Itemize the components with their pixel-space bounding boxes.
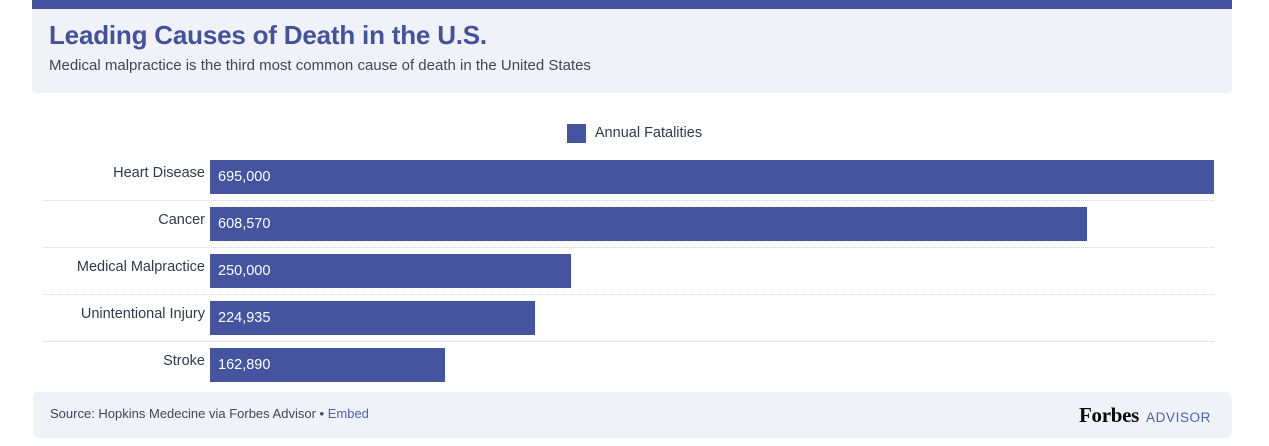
bar-row: Heart Disease 695,000	[0, 155, 1269, 202]
legend-item-annual-fatalities[interactable]: Annual Fatalities	[567, 124, 702, 143]
page-title: Leading Causes of Death in the U.S.	[49, 20, 487, 51]
bar-category-label: Heart Disease	[0, 165, 205, 181]
bar-segment[interactable]: 695,000	[210, 160, 1214, 194]
bar-value-label: 250,000	[210, 263, 270, 279]
bar-value-label: 162,890	[210, 357, 270, 373]
bar-value-label: 608,570	[210, 216, 270, 232]
bar-row: Cancer 608,570	[0, 202, 1269, 249]
forbes-advisor-logo: Forbes ADVISOR	[1079, 403, 1211, 428]
bar-category-label: Cancer	[0, 212, 205, 228]
bar-category-label: Unintentional Injury	[0, 306, 205, 322]
chart-plot-area: Heart Disease 695,000 Cancer 608,570 Med…	[0, 155, 1269, 390]
gridline	[43, 294, 1214, 295]
chart-legend: Annual Fatalities	[0, 124, 1269, 143]
bar-row: Medical Malpractice 250,000	[0, 249, 1269, 296]
bar-value-label: 224,935	[210, 310, 270, 326]
bar-segment[interactable]: 224,935	[210, 301, 535, 335]
chart-card: Leading Causes of Death in the U.S. Medi…	[0, 0, 1269, 446]
source-attribution: Source: Hopkins Medecine via Forbes Advi…	[50, 406, 369, 421]
gridline	[43, 200, 1214, 201]
bar-category-label: Stroke	[0, 353, 205, 369]
page-subtitle: Medical malpractice is the third most co…	[49, 57, 591, 74]
legend-swatch-icon	[567, 124, 586, 143]
bar-segment[interactable]: 608,570	[210, 207, 1087, 241]
chart-footer: Source: Hopkins Medecine via Forbes Advi…	[33, 392, 1232, 438]
legend-item-label: Annual Fatalities	[595, 124, 702, 143]
bar-value-label: 695,000	[210, 169, 270, 185]
bar-row: Unintentional Injury 224,935	[0, 296, 1269, 343]
brand-forbes-wordmark: Forbes	[1079, 403, 1139, 428]
bar-segment[interactable]: 162,890	[210, 348, 445, 382]
chart-header: Leading Causes of Death in the U.S. Medi…	[32, 0, 1232, 93]
brand-advisor-wordmark: ADVISOR	[1146, 410, 1211, 425]
bar-row: Stroke 162,890	[0, 343, 1269, 390]
embed-link[interactable]: Embed	[328, 406, 369, 421]
bar-category-label: Medical Malpractice	[0, 259, 205, 275]
bar-segment[interactable]: 250,000	[210, 254, 571, 288]
gridline	[43, 247, 1214, 248]
gridline	[43, 341, 1214, 342]
source-separator: •	[320, 406, 325, 421]
source-text: Source: Hopkins Medecine via Forbes Advi…	[50, 406, 316, 421]
